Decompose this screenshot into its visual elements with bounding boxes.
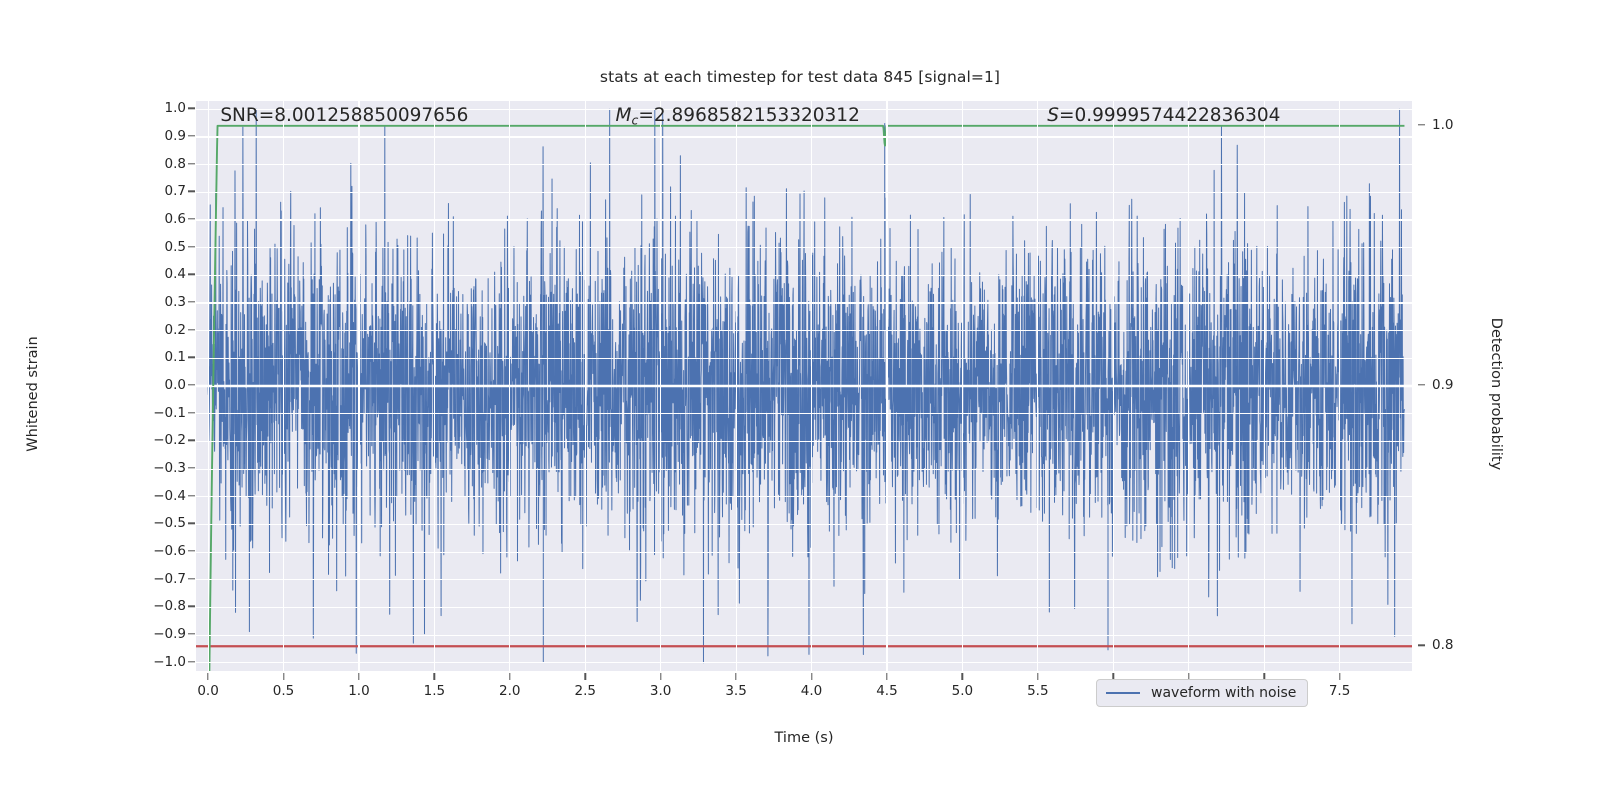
gridline-v (509, 101, 510, 671)
gridline-h (196, 662, 1412, 663)
gridline-v (1113, 101, 1114, 671)
gridline-v (886, 101, 887, 671)
gridline-v (1037, 101, 1038, 671)
x-axis-tick-label: 0.0 (178, 683, 238, 699)
x-axis-tick-label: 2.0 (480, 683, 540, 699)
y-axis-left-tick-label: −1.0 (128, 654, 186, 670)
x-axis-tick-label: 0.5 (254, 683, 314, 699)
y-axis-left-tick-label: −0.5 (128, 515, 186, 531)
legend-swatch-waveform (1106, 692, 1140, 694)
gridline-v (585, 101, 586, 671)
gridline-h (196, 247, 1412, 248)
annotation-s-label: S (1047, 105, 1059, 126)
y-axis-left-tick-label: −0.9 (128, 626, 186, 642)
x-axis-tick-label: 2.5 (555, 683, 615, 699)
legend-label-waveform: waveform with noise (1151, 685, 1296, 701)
y-axis-left-tick-label: 0.0 (128, 377, 186, 393)
gridline-v (660, 101, 661, 671)
y-axis-right-tick-label: 1.0 (1418, 117, 1502, 133)
gridline-h (196, 358, 1412, 359)
gridline-h (196, 635, 1412, 636)
x-axis-tick-label: 1.0 (329, 683, 389, 699)
y-axis-left-tick-label: 0.2 (128, 322, 186, 338)
annotation-score: S=0.9999574422836304 (1047, 105, 1280, 126)
annotation-mc-equals: = (638, 105, 654, 126)
x-axis-tick-label: 3.5 (706, 683, 766, 699)
annotation-s-equals: = (1059, 105, 1075, 126)
gridline-h (196, 413, 1412, 414)
y-axis-left-tick-label: 0.7 (128, 183, 186, 199)
annotation-snr-label: SNR= (220, 105, 274, 126)
gridline-h (196, 330, 1412, 331)
x-axis-label: Time (s) (196, 730, 1412, 746)
y-axis-left-tick-label: −0.2 (128, 432, 186, 448)
gridline-v (283, 101, 284, 671)
plot-area (196, 101, 1412, 671)
annotation-snr: SNR=8.001258850097656 (220, 105, 468, 126)
annotation-mc-value: 2.8968582153320312 (654, 105, 860, 126)
y-axis-right-label: Detection probability (1488, 194, 1504, 594)
annotation-chirp-mass: Mc=2.8968582153320312 (616, 105, 860, 128)
y-axis-left-tick-label: 0.5 (128, 239, 186, 255)
gridline-h (196, 164, 1412, 165)
gridline-v (1339, 101, 1340, 671)
gridline-h (196, 441, 1412, 442)
legend: waveform with noise (1096, 679, 1308, 707)
x-axis-tick-label: 4.0 (782, 683, 842, 699)
gridline-v (1264, 101, 1265, 671)
chart-title: stats at each timestep for test data 845… (0, 68, 1600, 86)
x-axis-tick-label: 7.5 (1310, 683, 1370, 699)
gridline-v (962, 101, 963, 671)
y-axis-left-tick-label: 0.8 (128, 156, 186, 172)
gridline-h (196, 136, 1412, 137)
gridline-v (1188, 101, 1189, 671)
annotation-s-value: 0.9999574422836304 (1074, 105, 1280, 126)
gridline-v (811, 101, 812, 671)
gridline-h (196, 192, 1412, 193)
annotation-mc-label: M (616, 105, 632, 126)
y-axis-left-tick-label: −0.6 (128, 543, 186, 559)
x-axis-tick-label: 5.0 (932, 683, 992, 699)
gridline-v (736, 101, 737, 671)
y-axis-left-tick-label: 0.1 (128, 349, 186, 365)
x-axis-tick-label: 5.5 (1008, 683, 1068, 699)
gridline-h (196, 219, 1412, 220)
gridline-h (196, 552, 1412, 553)
y-axis-left-tick-label: 1.0 (128, 100, 186, 116)
gridline-v (358, 101, 359, 671)
y-axis-left-tick-label: 0.3 (128, 294, 186, 310)
gridline-h (196, 496, 1412, 497)
y-axis-left-tick-label: 0.6 (128, 211, 186, 227)
gridline-h (196, 386, 1412, 387)
annotation-snr-value: 8.001258850097656 (274, 105, 468, 126)
gridline-h (196, 275, 1412, 276)
gridline-v (434, 101, 435, 671)
y-axis-left-tick-label: −0.1 (128, 405, 186, 421)
gridline-h (196, 607, 1412, 608)
gridline-h (196, 579, 1412, 580)
x-axis-tick-label: 1.5 (404, 683, 464, 699)
y-axis-right-tick-label: 0.8 (1418, 637, 1502, 653)
y-axis-left-label: Whitened strain (25, 194, 41, 594)
gridline-h (196, 469, 1412, 470)
y-axis-left-tick-label: 0.9 (128, 128, 186, 144)
gridline-v (208, 101, 209, 671)
y-axis-left-tick-label: −0.7 (128, 571, 186, 587)
figure: stats at each timestep for test data 845… (0, 0, 1600, 800)
gridline-h (196, 302, 1412, 303)
y-axis-left-tick-label: 0.4 (128, 266, 186, 282)
x-axis-tick-label: 3.0 (631, 683, 691, 699)
y-axis-left-tick-label: −0.4 (128, 488, 186, 504)
gridline-h (196, 524, 1412, 525)
x-axis-tick-label: 4.5 (857, 683, 917, 699)
y-axis-left-tick-label: −0.8 (128, 598, 186, 614)
y-axis-left-tick-label: −0.3 (128, 460, 186, 476)
